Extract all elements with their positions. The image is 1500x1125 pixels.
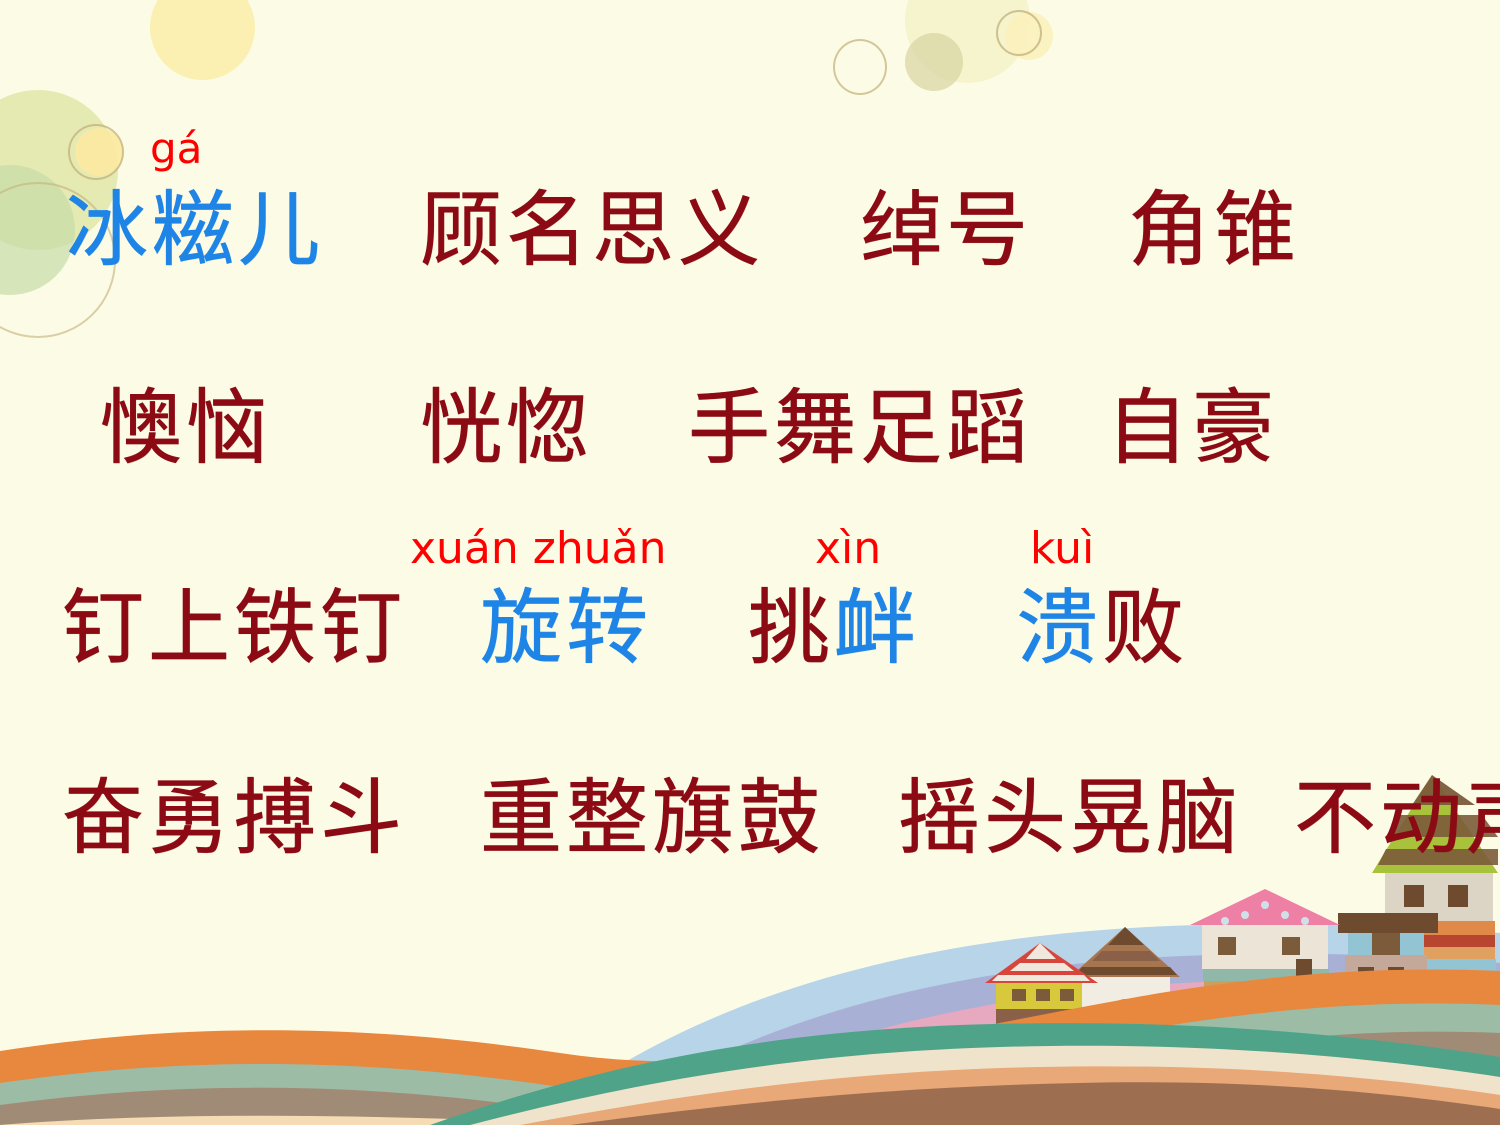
vocab-term-tiaoxin[interactable]: 挑衅 — [748, 588, 920, 670]
vocab-term-dingshangtieding[interactable]: 钉上铁钉 — [62, 588, 406, 670]
vocab-term-shouwuzudao[interactable]: 手舞足蹈 — [688, 388, 1032, 470]
hanzi-dingshangtieding: 钉上铁钉 — [62, 581, 406, 676]
vocab-term-aonao[interactable]: 懊恼 — [100, 388, 272, 470]
vocab-term-zihao[interactable]: 自豪 — [1106, 388, 1278, 470]
hanzi-xuanzhuan: 旋转 — [480, 581, 652, 676]
vocab-term-kuibai[interactable]: 溃败 — [1016, 588, 1188, 670]
hanzi-budongshengse: 不动声色 — [1294, 771, 1500, 866]
vocab-row-1: gá 冰糍儿 顾名思义 绰号 角锥 — [66, 190, 1300, 272]
hanzi-chongzhengqigu: 重整旗鼓 — [480, 771, 824, 866]
hanzi-yaotouhuangnao: 摇头晃脑 — [898, 771, 1242, 866]
hanzi-shouwuzudao: 手舞足蹈 — [688, 381, 1032, 476]
vocab-term-huanghu[interactable]: 恍惚 — [420, 388, 592, 470]
hanzi-chuohao: 绰号 — [860, 183, 1032, 278]
vocab-term-fenyongbodou[interactable]: 奋勇搏斗 — [62, 778, 406, 860]
vocab-term-gumingsiyi[interactable]: 顾名思义 — [420, 190, 764, 272]
vocab-term-bingciernr[interactable]: gá 冰糍儿 — [66, 190, 324, 272]
hanzi-bingcier: 冰糍儿 — [66, 183, 324, 278]
vocab-term-chongzhengqigu[interactable]: 重整旗鼓 — [480, 778, 824, 860]
hanzi-gumingsiyi: 顾名思义 — [420, 183, 764, 278]
vocabulary-content: gá 冰糍儿 顾名思义 绰号 角锥 懊恼 恍惚 — [0, 0, 1500, 1125]
hanzi-xin: 衅 — [834, 581, 920, 676]
hanzi-bai: 败 — [1102, 581, 1188, 676]
hanzi-zihao: 自豪 — [1106, 381, 1278, 476]
hanzi-fenyongbodou: 奋勇搏斗 — [62, 771, 406, 866]
hanzi-tiao: 挑 — [748, 581, 834, 676]
vocab-term-xuanzhuan[interactable]: 旋转 — [480, 588, 652, 670]
hanzi-jiaozhui: 角锥 — [1128, 183, 1300, 278]
vocab-term-budongshengse[interactable]: 不动声色 — [1294, 778, 1500, 860]
vocab-row-3: 钉上铁钉 旋转 挑衅 溃败 — [62, 588, 1188, 670]
hanzi-kui: 溃 — [1016, 581, 1102, 676]
hanzi-aonao: 懊恼 — [100, 381, 272, 476]
slide-canvas: gá 冰糍儿 顾名思义 绰号 角锥 懊恼 恍惚 — [0, 0, 1500, 1125]
pinyin-xin: xìn — [815, 523, 881, 574]
vocab-row-4: 奋勇搏斗 重整旗鼓 摇头晃脑 不动声色 — [62, 778, 1500, 860]
vocab-row-2: 懊恼 恍惚 手舞足蹈 自豪 — [100, 388, 1278, 470]
vocab-term-jiaozhui[interactable]: 角锥 — [1128, 190, 1300, 272]
pinyin-xuanzhuan: xuán zhuǎn — [410, 523, 666, 574]
hanzi-huanghu: 恍惚 — [420, 381, 592, 476]
pinyin-kui: kuì — [1030, 523, 1094, 574]
vocab-term-chuohao[interactable]: 绰号 — [860, 190, 1032, 272]
vocab-term-yaotouhuangnao[interactable]: 摇头晃脑 — [898, 778, 1242, 860]
pinyin-ga: gá — [150, 128, 202, 170]
